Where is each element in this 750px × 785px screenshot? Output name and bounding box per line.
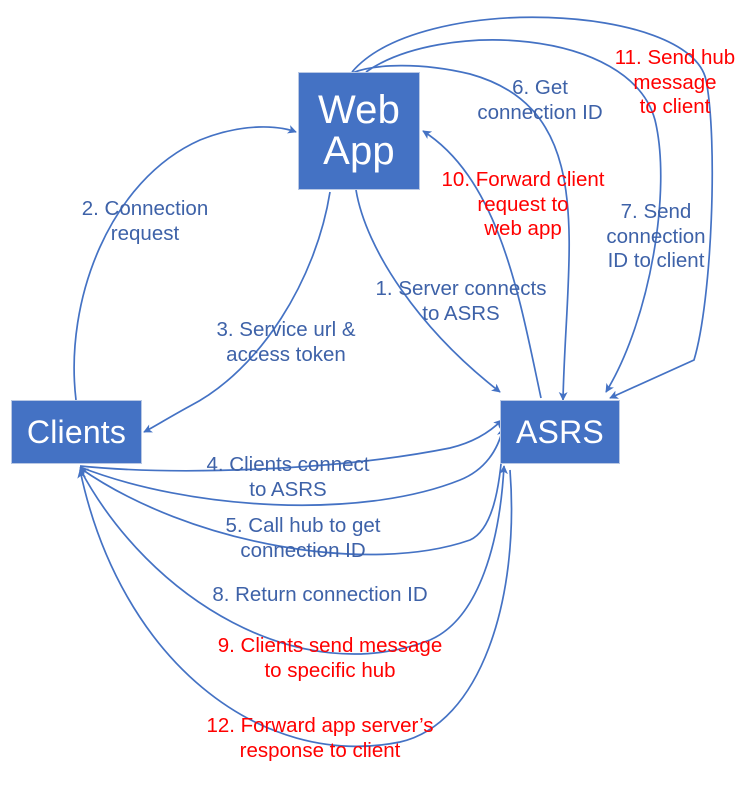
arrow-12	[80, 470, 512, 746]
node-web-app-line2: App	[323, 131, 395, 172]
step-label-4: 4. Clients connect to ASRS	[190, 453, 386, 502]
node-clients-label: Clients	[27, 416, 126, 449]
node-asrs-label: ASRS	[516, 416, 604, 449]
step-label-1: 1. Server connects to ASRS	[365, 277, 557, 326]
node-web-app[interactable]: Web App	[298, 72, 420, 190]
node-clients[interactable]: Clients	[11, 400, 142, 464]
step-label-9: 9. Clients send message to specific hub	[200, 634, 460, 683]
step-label-12: 12. Forward app server’s response to cli…	[186, 714, 454, 763]
node-asrs[interactable]: ASRS	[500, 400, 620, 464]
diagram-canvas: Web App Clients ASRS 11. Send hub messag…	[0, 0, 750, 785]
step-label-11: 11. Send hub message to client	[605, 46, 745, 120]
step-label-3: 3. Service url & access token	[200, 318, 372, 367]
step-label-2: 2. Connection request	[60, 197, 230, 246]
step-label-10: 10. Forward client request to web app	[430, 168, 616, 242]
step-label-7: 7. Send connection ID to client	[600, 200, 712, 274]
step-label-8: 8. Return connection ID	[186, 583, 454, 608]
step-label-6: 6. Get connection ID	[466, 76, 614, 125]
node-web-app-line1: Web	[318, 90, 400, 131]
step-label-5: 5. Call hub to get connection ID	[205, 514, 401, 563]
